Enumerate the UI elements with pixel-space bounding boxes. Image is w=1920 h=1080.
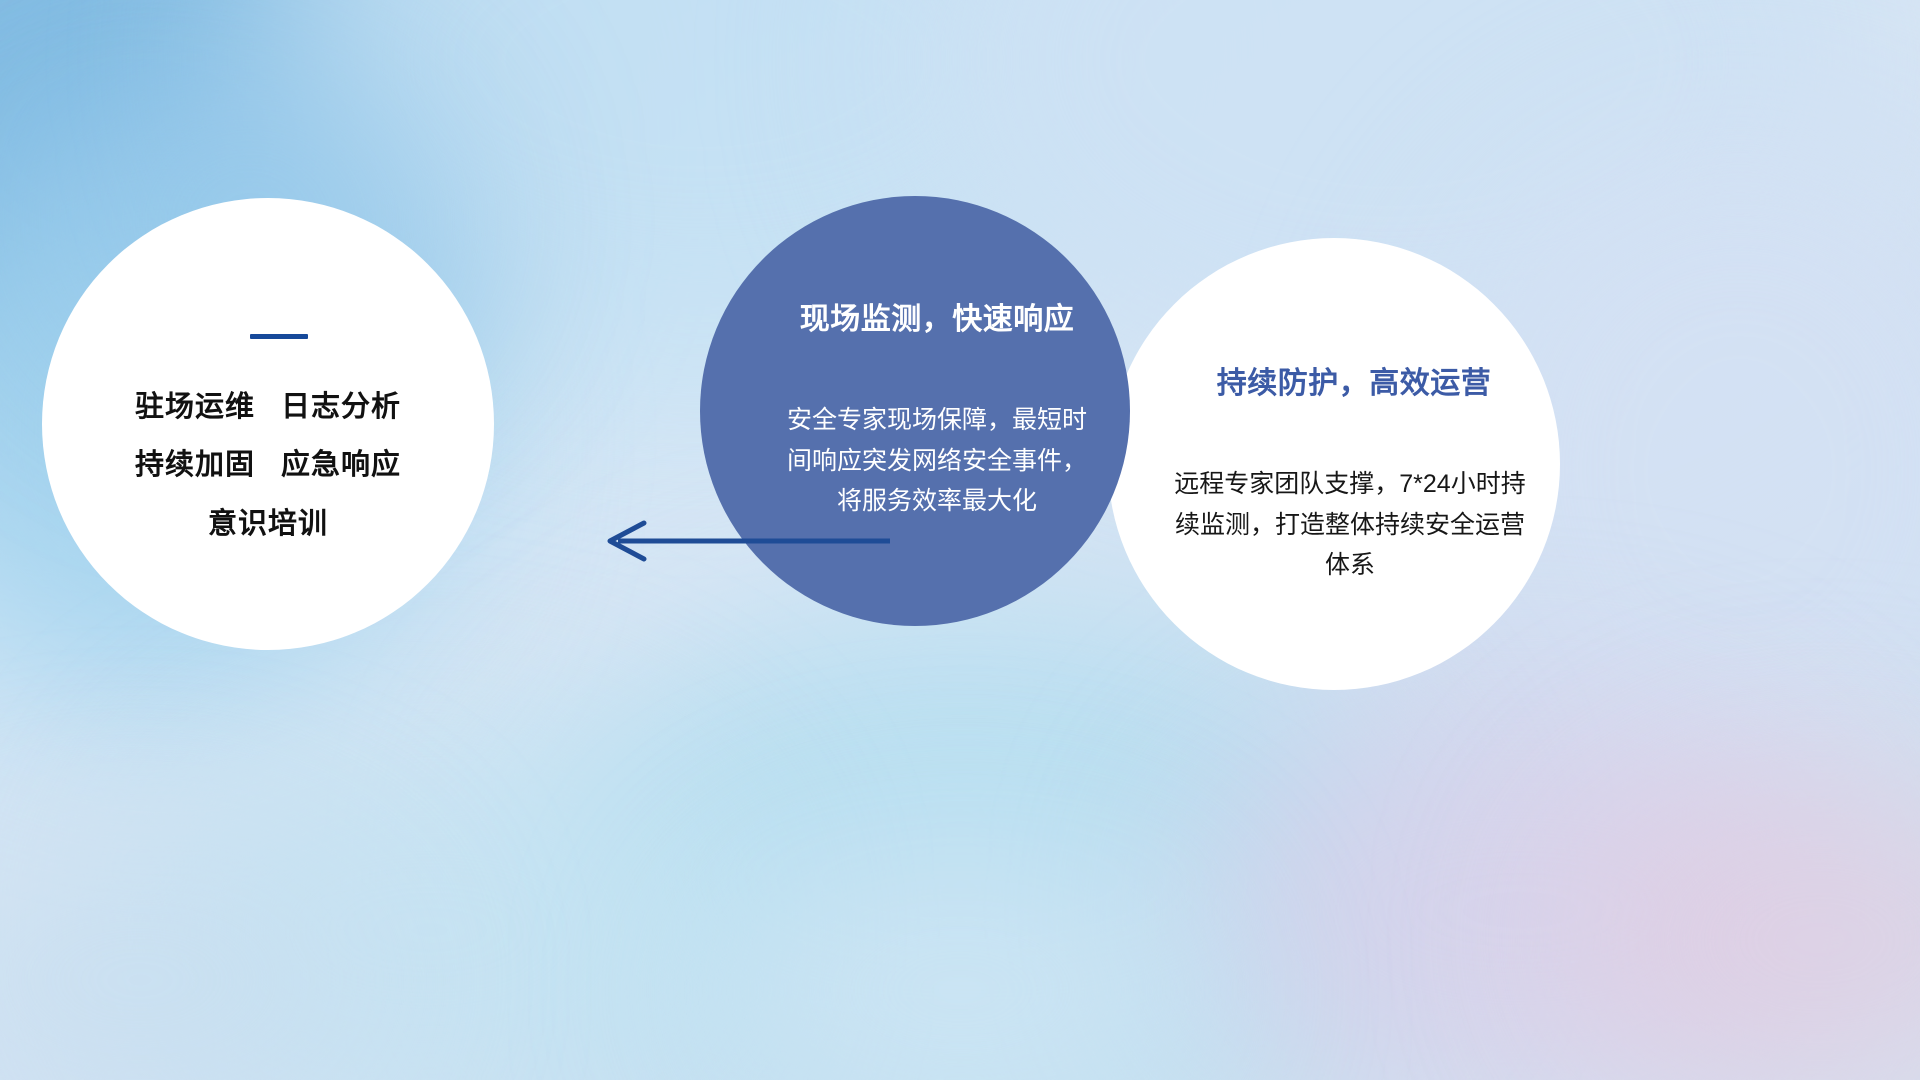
- left-circle-content: 驻场运维日志分析 持续加固应急响应 意识培训: [42, 198, 494, 650]
- right-circle-content: 持续防护，高效运营 远程专家团队支撑，7*24小时持续监测，打造整体持续安全运营…: [1108, 238, 1560, 690]
- center-circle-body: 安全专家现场保障，最短时间响应突发网络安全事件，将服务效率最大化: [777, 400, 1097, 522]
- left-keyword: 驻场运维: [135, 391, 255, 423]
- left-keyword: 意识培训: [208, 508, 328, 540]
- left-circle-line-2: 持续加固应急响应: [135, 449, 401, 481]
- center-circle-content: 现场监测，快速响应 安全专家现场保障，最短时间响应突发网络安全事件，将服务效率最…: [700, 196, 1130, 626]
- left-keyword: 持续加固: [135, 449, 255, 481]
- accent-rule-icon: [250, 334, 308, 339]
- left-keyword: 应急响应: [281, 449, 401, 481]
- left-circle-line-1: 驻场运维日志分析: [135, 391, 401, 423]
- slide-canvas: 驻场运维日志分析 持续加固应急响应 意识培训 现场监测，快速响应 安全专家现场保…: [0, 0, 1920, 1080]
- left-keyword: 日志分析: [281, 391, 401, 423]
- right-circle-title: 持续防护，高效运营: [1217, 358, 1492, 402]
- center-circle-title: 现场监测，快速响应: [800, 294, 1075, 338]
- right-circle-body: 远程专家团队支撑，7*24小时持续监测，打造整体持续安全运营体系: [1170, 464, 1530, 586]
- left-circle-line-3: 意识培训: [208, 508, 328, 540]
